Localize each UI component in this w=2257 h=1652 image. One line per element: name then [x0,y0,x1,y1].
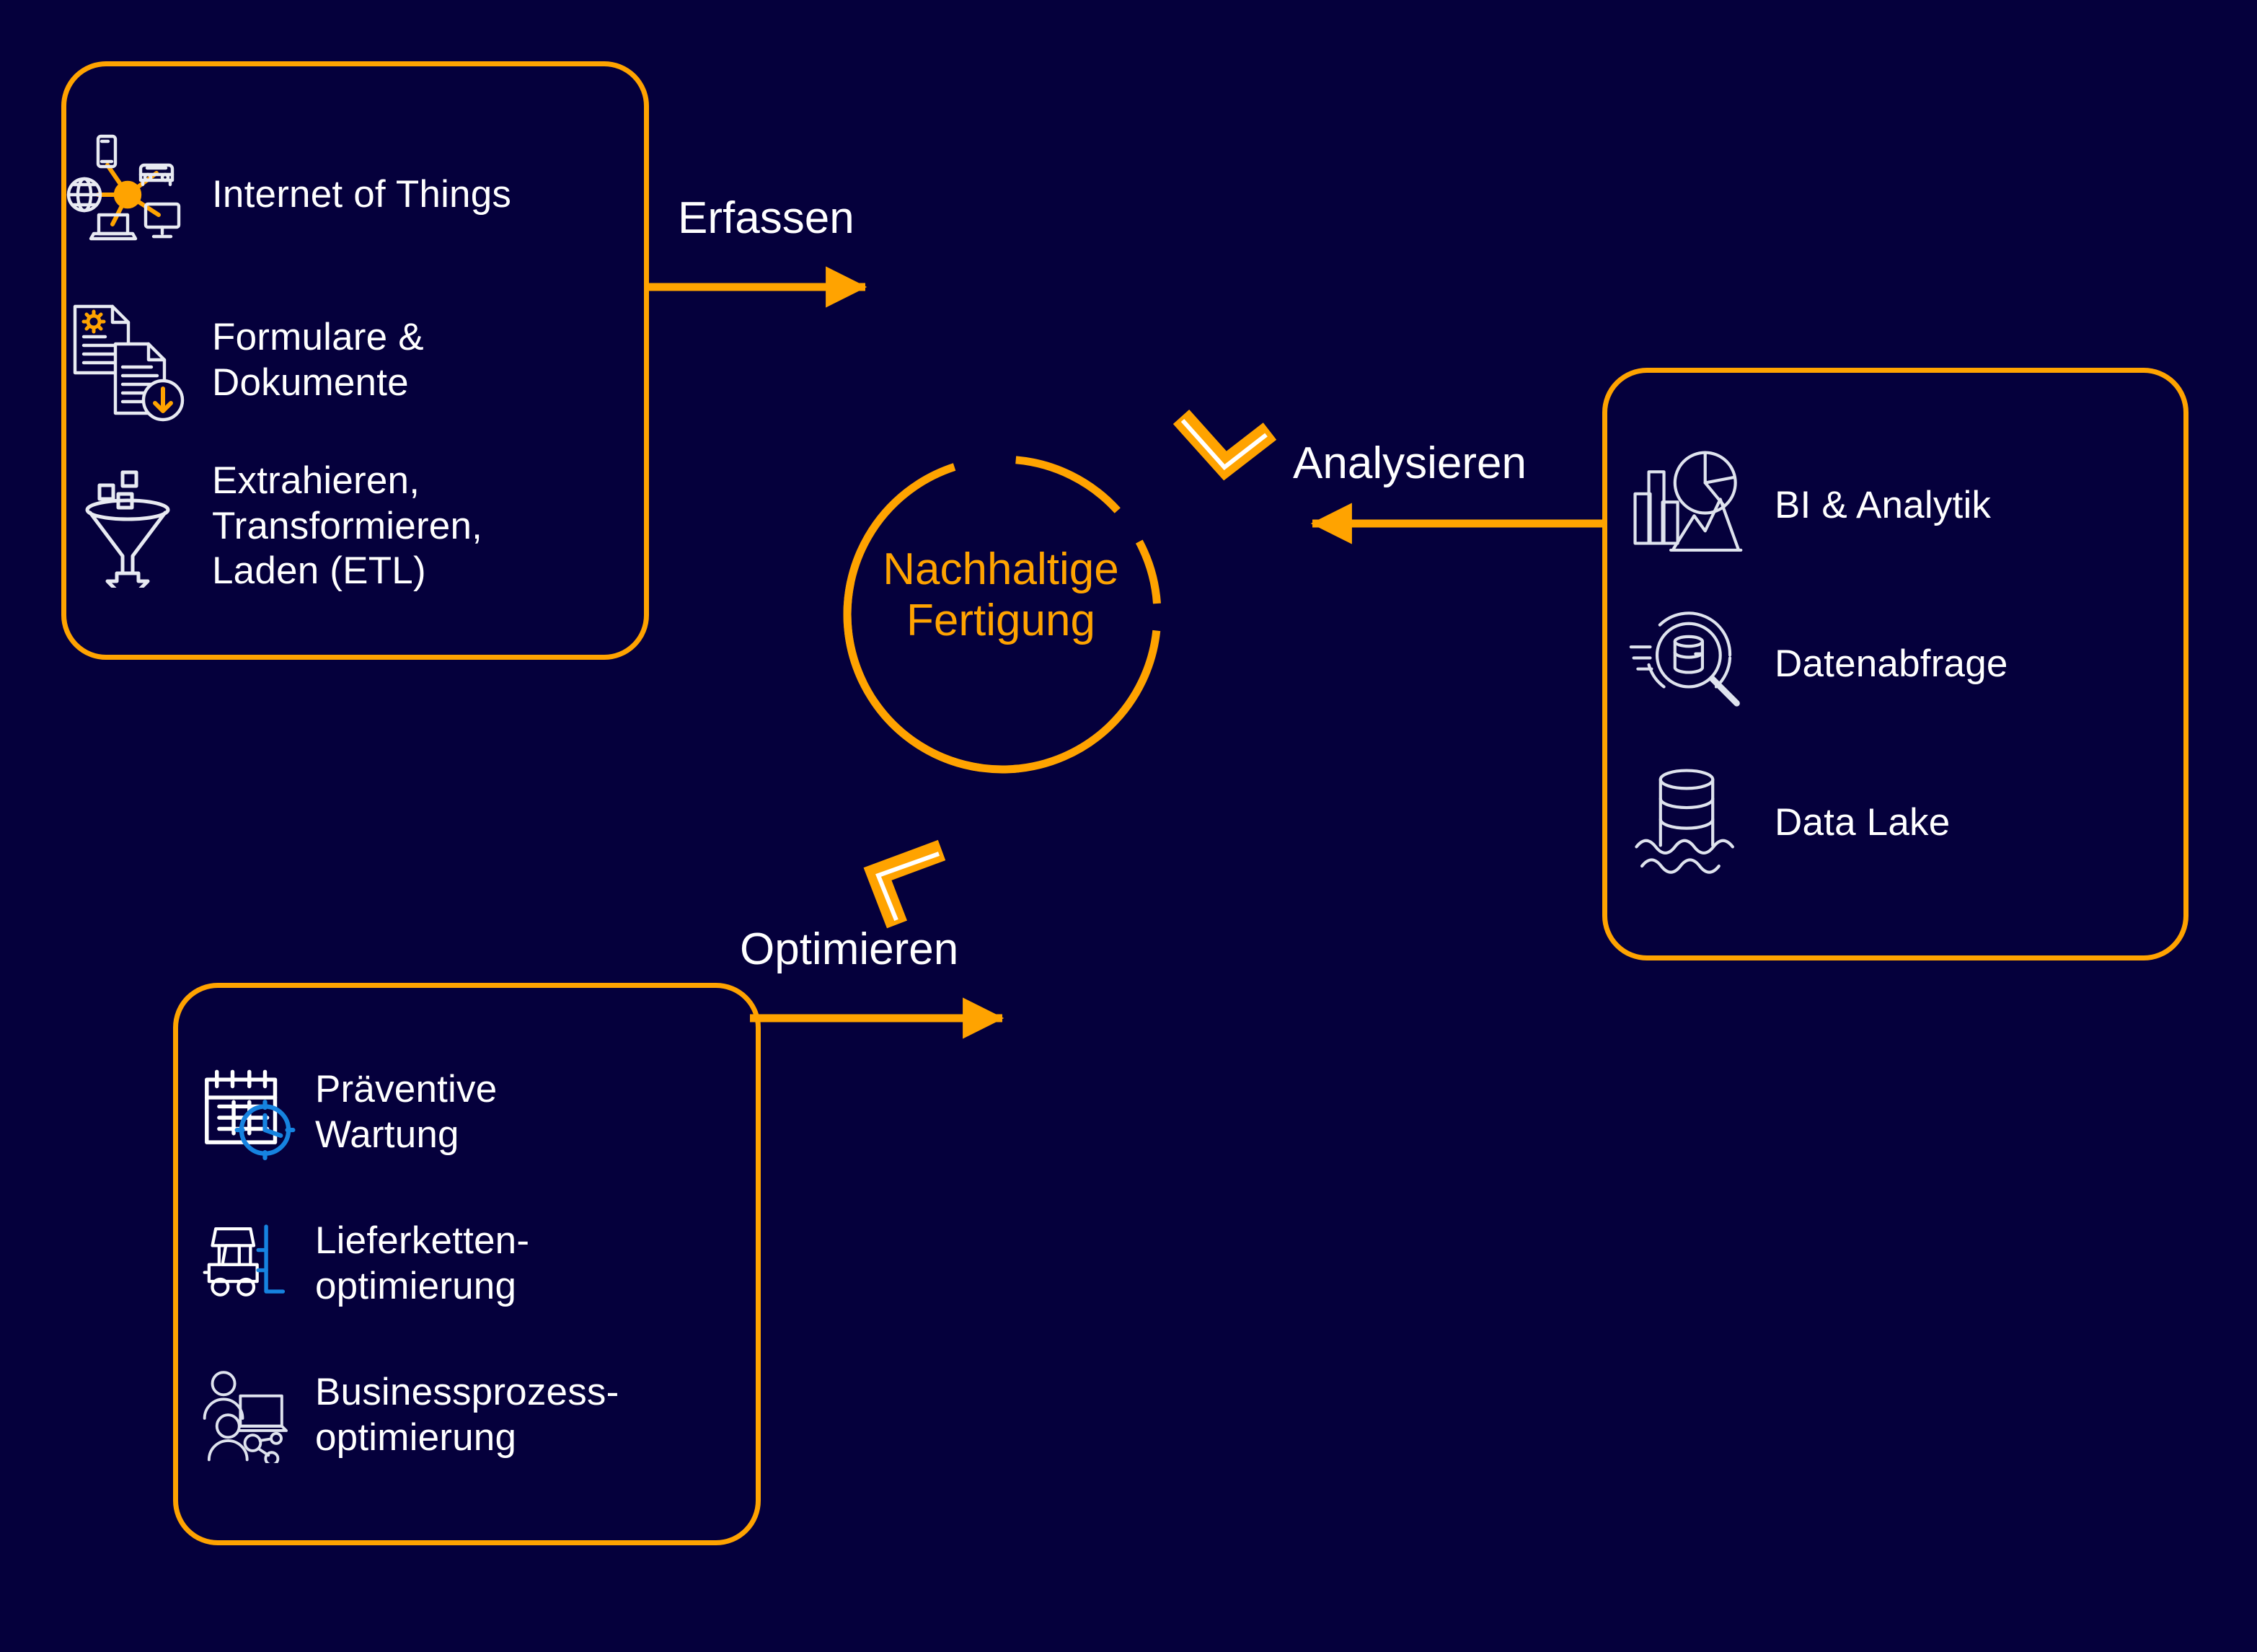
list-item: Präventive Wartung [178,1037,756,1188]
list-item: Datenabfrage [1607,585,2183,743]
etl-funnel-icon [59,465,196,588]
center-title: Nachhaltige Fertigung [842,544,1160,646]
diagram-canvas: Nachhaltige Fertigung Erfassen Analysier… [0,0,2257,1652]
list-item-label: Formulare & Dokumente [212,315,424,405]
list-item-label: Lieferketten- optimierung [315,1219,529,1309]
list-item: Extrahieren, Transformieren, Laden (ETL) [66,443,644,609]
bi-analytics-chart-icon [1615,447,1759,564]
list-item-label: Internet of Things [212,172,511,218]
list-item: Data Lake [1607,743,2183,902]
list-item: BI & Analytik [1607,426,2183,585]
flow-label-erfassen: Erfassen [678,196,854,241]
data-sources-panel: Internet of Things [61,61,649,660]
list-item: Formulare & Dokumente [66,278,644,443]
list-item: Lieferketten- optimierung [178,1188,756,1340]
cycle-arrowhead-bottom [878,850,942,924]
optimization-panel: Präventive Wartung [173,983,761,1545]
list-item: Businessprozess- optimierung [178,1340,756,1491]
analytics-panel: BI & Analytik [1602,368,2188,960]
iot-network-icon [59,133,196,256]
list-item-label: Businessprozess- optimierung [315,1370,619,1460]
flow-label-analysieren: Analysieren [1293,441,1527,486]
list-item: Internet of Things [66,112,644,278]
list-item-label: Datenabfrage [1775,642,2008,687]
list-item-label: Präventive Wartung [315,1067,497,1157]
data-lake-icon [1615,764,1759,881]
business-process-icon [198,1368,299,1463]
list-item-label: Data Lake [1775,800,1950,846]
cycle-arrowhead-top [1181,417,1270,467]
flow-label-optimieren: Optimieren [740,927,958,972]
documents-forms-icon [59,299,196,422]
forklift-supply-chain-icon [198,1216,299,1312]
list-item-label: BI & Analytik [1775,483,1991,529]
data-query-search-icon [1615,606,1759,723]
preventive-maintenance-icon [198,1065,299,1160]
list-item-label: Extrahieren, Transformieren, Laden (ETL) [212,459,482,594]
